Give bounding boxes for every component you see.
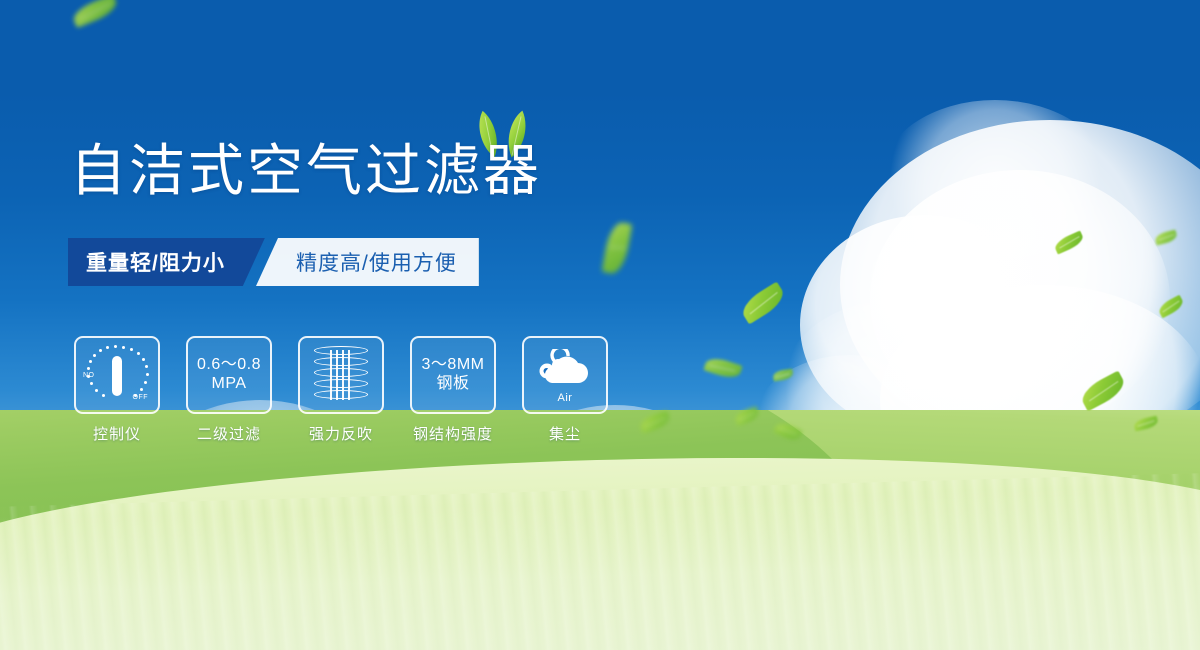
- feature-item-pressure[interactable]: 0.6～0.8 MPA 二级过滤: [186, 336, 272, 444]
- feature-item-control[interactable]: NO OFF: [74, 336, 160, 444]
- feature-icon-box: Air: [522, 336, 608, 414]
- feature-icon-box: NO OFF: [74, 336, 160, 414]
- page-title: 自洁式空气过滤器: [70, 143, 542, 199]
- feature-label: 集尘: [522, 423, 608, 444]
- feature-item-steel[interactable]: 3～8MM 钢板 钢结构强度: [410, 336, 496, 444]
- pressure-text-icon: 0.6～0.8 MPA: [197, 356, 261, 394]
- pressure-line-2: MPA: [197, 375, 261, 394]
- feature-label: 强力反吹: [298, 423, 384, 444]
- banner-content: 自洁式空气过滤器 重量轻/阻力小 精度高/使用方便 NO OFF: [0, 0, 1200, 650]
- feature-icon-box: [298, 336, 384, 414]
- feature-label: 钢结构强度: [410, 423, 496, 444]
- feature-item-dust[interactable]: Air 集尘: [522, 336, 608, 444]
- feature-list: NO OFF: [74, 336, 608, 444]
- air-cloud-icon: Air: [534, 349, 596, 401]
- feature-icon-box: 0.6～0.8 MPA: [186, 336, 272, 414]
- steel-line-1: 3～8MM: [422, 356, 485, 375]
- steel-line-2: 钢板: [422, 375, 485, 394]
- feature-item-blowback[interactable]: 强力反吹: [298, 336, 384, 444]
- feature-label: 二级过滤: [186, 423, 272, 444]
- subtitle-left: 重量轻/阻力小: [68, 238, 265, 286]
- subtitle-right: 精度高/使用方便: [256, 238, 479, 286]
- product-banner: 自洁式空气过滤器 重量轻/阻力小 精度高/使用方便 NO OFF: [0, 0, 1200, 650]
- pressure-line-1: 0.6～0.8: [197, 356, 261, 375]
- filter-coil-icon: [314, 346, 368, 404]
- feature-label: 控制仪: [74, 423, 160, 444]
- gauge-needle: [112, 356, 122, 396]
- air-label: Air: [534, 392, 596, 404]
- gauge-icon: NO OFF: [82, 344, 152, 406]
- steel-plate-text-icon: 3～8MM 钢板: [422, 356, 485, 394]
- feature-icon-box: 3～8MM 钢板: [410, 336, 496, 414]
